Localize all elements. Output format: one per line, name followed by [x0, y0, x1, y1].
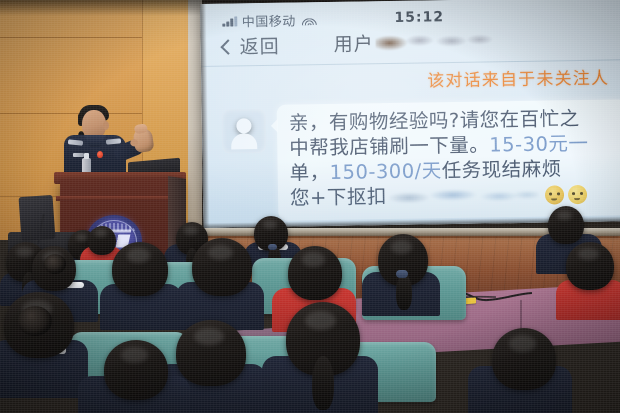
redacted-contact-blur — [389, 187, 539, 206]
neutral-face-emoji — [568, 185, 587, 204]
default-user-avatar-icon — [222, 109, 267, 154]
smiling-face-emoji — [545, 185, 564, 204]
message-line-2-text: 中帮我店铺刷一下量。 — [289, 133, 489, 159]
student-ponytail — [396, 274, 412, 310]
student-hair-tie — [396, 270, 408, 278]
message-line-3-highlight: 150-300/天 — [329, 159, 441, 184]
student-head — [192, 238, 252, 296]
student-hair-tie — [268, 244, 277, 250]
speaker-uniform-badge — [97, 151, 103, 158]
speaker-ear — [103, 121, 109, 130]
speaker-monitor-box — [19, 195, 56, 241]
speaker-name-plate — [73, 153, 84, 157]
student-head — [492, 328, 556, 390]
redacted-username-blur — [375, 31, 493, 53]
podium-trim — [56, 196, 184, 201]
student-head — [112, 242, 168, 296]
adult-attendee-head — [548, 206, 584, 244]
student-head — [176, 320, 246, 386]
message-line-3-tail: 任务现结麻烦 — [442, 157, 562, 182]
conversation-title-prefix: 用户 — [333, 29, 373, 57]
message-line-2: 中帮我店铺刷一下量。15-30元一 — [289, 130, 618, 160]
message-line-4-text: 您+下抠扣 — [290, 185, 387, 210]
scam-message-bubble: 亲，有购物经验吗?请您在百忙之 中帮我店铺刷一下量。15-30元一 单，150-… — [277, 99, 620, 220]
message-line-2-highlight: 15-30元一 — [489, 132, 589, 157]
student-audience — [0, 236, 620, 413]
student-ponytail — [312, 356, 334, 410]
student-head — [104, 340, 168, 400]
conversation-title: 用户 — [200, 25, 620, 59]
message-line-3-text: 单， — [289, 161, 329, 185]
student-hair-bun — [18, 306, 52, 336]
student-hair-bun — [44, 254, 66, 274]
student-head — [566, 242, 614, 290]
chat-message-row: 亲，有购物经验吗?请您在百忙之 中帮我店铺刷一下量。15-30元一 单，150-… — [212, 101, 620, 222]
projection-screen: 中国移动 15:12 返回 用户 该对话来自于未关注人 — [200, 0, 620, 228]
student-head — [288, 246, 342, 300]
student-head — [88, 226, 116, 255]
auditorium-photo: 中国移动 15:12 返回 用户 该对话来自于未关注人 — [0, 0, 620, 413]
unfollowed-contact-warning: 该对话来自于未关注人 — [427, 64, 609, 92]
